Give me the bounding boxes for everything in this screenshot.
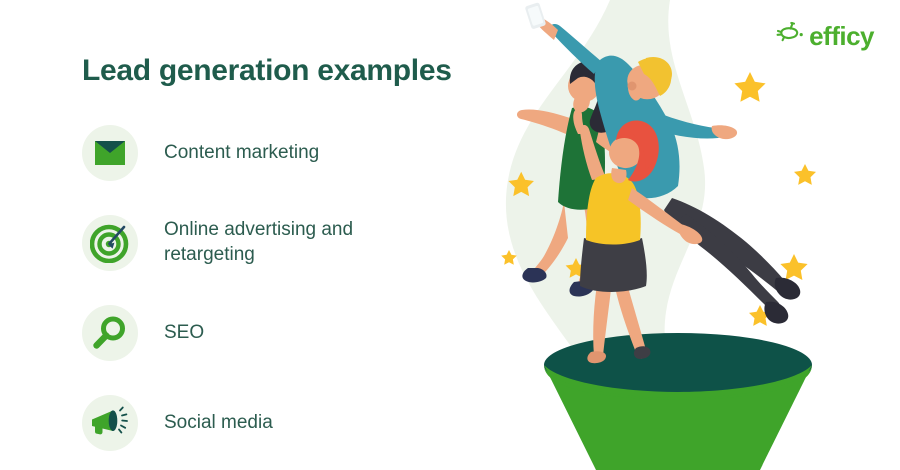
people-celebrating-funnel-illustration — [460, 0, 900, 470]
magnifier-icon — [82, 305, 138, 361]
smartphone-icon — [525, 2, 547, 29]
list-item-label: SEO — [164, 321, 204, 346]
examples-list: Content marketing Online advertising and… — [82, 122, 462, 470]
list-item-label: Content marketing — [164, 141, 319, 166]
list-item[interactable]: Content marketing — [82, 122, 462, 184]
list-item[interactable]: Online advertising and retargeting — [82, 212, 462, 274]
slide-canvas: efficy Lead generation examples Content … — [0, 0, 900, 470]
list-item[interactable]: SEO — [82, 302, 462, 364]
list-item-label: Online advertising and retargeting — [164, 218, 414, 267]
funnel-shape — [544, 333, 812, 470]
list-item-label: Social media — [164, 411, 273, 436]
list-item[interactable]: Social media — [82, 392, 462, 454]
envelope-icon — [82, 125, 138, 181]
page-title: Lead generation examples — [82, 54, 452, 88]
target-icon — [82, 215, 138, 271]
megaphone-icon — [82, 395, 138, 451]
